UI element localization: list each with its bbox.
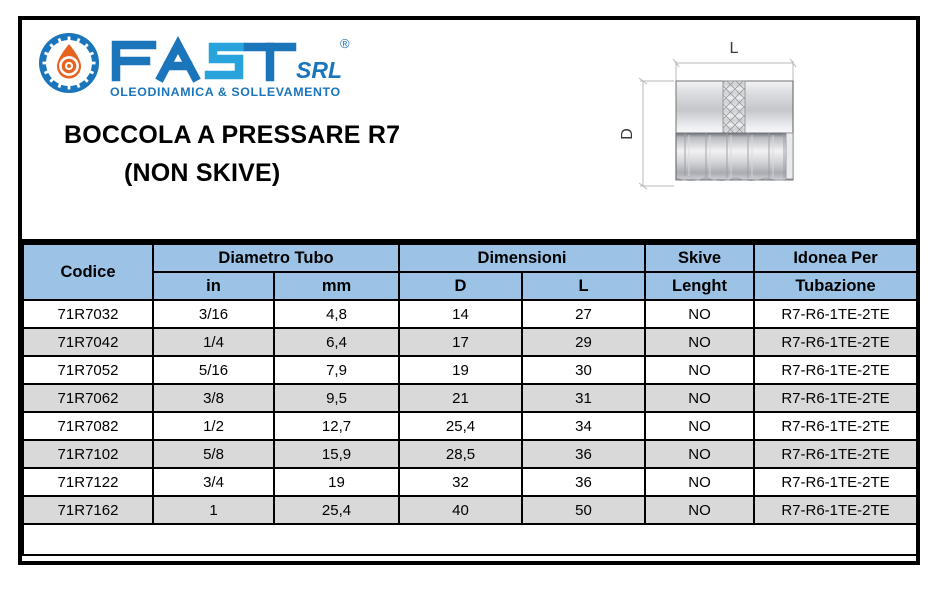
- specification-table: Codice Diametro Tubo Dimensioni Skive Id…: [22, 243, 916, 556]
- cell-tubazione: R7-R6-1TE-2TE: [754, 440, 917, 468]
- cell-codice: 71R7162: [23, 496, 153, 524]
- title-line-2: (NON SKIVE): [46, 154, 476, 192]
- gear-oil-drop-icon: [38, 32, 100, 94]
- cell-skive: NO: [645, 468, 754, 496]
- table-row: 71R70323/164,81427NOR7-R6-1TE-2TE: [23, 300, 917, 328]
- cell-d: 28,5: [399, 440, 522, 468]
- table-row: 71R70421/46,41729NOR7-R6-1TE-2TE: [23, 328, 917, 356]
- cell-d: 32: [399, 468, 522, 496]
- svg-text:®: ®: [340, 36, 350, 51]
- col-group-diametro-tubo: Diametro Tubo: [153, 244, 399, 272]
- cell-l: 30: [522, 356, 645, 384]
- cell-skive: NO: [645, 300, 754, 328]
- table-sub-header-row: in mm D L Lenght Tubazione: [23, 272, 917, 300]
- cell-l: 31: [522, 384, 645, 412]
- title-line-1: BOCCOLA A PRESSARE R7: [46, 116, 476, 154]
- svg-text:SRL: SRL: [296, 57, 342, 83]
- cell-d: 17: [399, 328, 522, 356]
- cell-tubazione: R7-R6-1TE-2TE: [754, 384, 917, 412]
- filler-cell: [522, 524, 645, 555]
- table-body: 71R70323/164,81427NOR7-R6-1TE-2TE71R7042…: [23, 300, 917, 555]
- cell-l: 34: [522, 412, 645, 440]
- table-group-header-row: Codice Diametro Tubo Dimensioni Skive Id…: [23, 244, 917, 272]
- cell-d: 21: [399, 384, 522, 412]
- table-row: 71R7162125,44050NOR7-R6-1TE-2TE: [23, 496, 917, 524]
- cell-tubazione: R7-R6-1TE-2TE: [754, 412, 917, 440]
- cell-skive: NO: [645, 328, 754, 356]
- cell-codice: 71R7042: [23, 328, 153, 356]
- filler-cell: [274, 524, 399, 555]
- cell-tubazione: R7-R6-1TE-2TE: [754, 496, 917, 524]
- cell-tubazione: R7-R6-1TE-2TE: [754, 356, 917, 384]
- header-band: SRL ® OLEODINAMICA & SOLLEVAMENTO BOCCOL…: [22, 20, 916, 243]
- col-group-dimensioni: Dimensioni: [399, 244, 645, 272]
- cell-skive: NO: [645, 440, 754, 468]
- cell-l: 27: [522, 300, 645, 328]
- cell-mm: 4,8: [274, 300, 399, 328]
- datasheet-frame: SRL ® OLEODINAMICA & SOLLEVAMENTO BOCCOL…: [18, 16, 920, 565]
- filler-cell: [23, 524, 153, 555]
- table-row: 71R71223/4193236NOR7-R6-1TE-2TE: [23, 468, 917, 496]
- cell-in: 5/16: [153, 356, 274, 384]
- dimension-label-length: L: [730, 40, 739, 57]
- cell-skive: NO: [645, 412, 754, 440]
- cell-in: 3/8: [153, 384, 274, 412]
- cell-mm: 6,4: [274, 328, 399, 356]
- cell-codice: 71R7122: [23, 468, 153, 496]
- cell-tubazione: R7-R6-1TE-2TE: [754, 300, 917, 328]
- filler-cell: [153, 524, 274, 555]
- company-logo: SRL ® OLEODINAMICA & SOLLEVAMENTO: [38, 28, 368, 108]
- ferrule-technical-drawing: L D: [618, 26, 908, 226]
- page-title: BOCCOLA A PRESSARE R7 (NON SKIVE): [46, 116, 476, 192]
- table-row: 71R70525/167,91930NOR7-R6-1TE-2TE: [23, 356, 917, 384]
- filler-cell: [399, 524, 522, 555]
- dimension-line-diameter: [639, 78, 674, 189]
- cell-mm: 12,7: [274, 412, 399, 440]
- dimension-line-length: [673, 59, 796, 81]
- cell-mm: 25,4: [274, 496, 399, 524]
- cell-skive: NO: [645, 496, 754, 524]
- col-header-lenght: Lenght: [645, 272, 754, 300]
- dimension-label-diameter: D: [619, 128, 636, 140]
- col-group-skive: Skive: [645, 244, 754, 272]
- cell-mm: 15,9: [274, 440, 399, 468]
- col-header-l: L: [522, 272, 645, 300]
- cell-skive: NO: [645, 356, 754, 384]
- cell-in: 1: [153, 496, 274, 524]
- table-row: 71R70623/89,52131NOR7-R6-1TE-2TE: [23, 384, 917, 412]
- cell-codice: 71R7082: [23, 412, 153, 440]
- cell-in: 1/4: [153, 328, 274, 356]
- filler-cell: [645, 524, 754, 555]
- cell-codice: 71R7052: [23, 356, 153, 384]
- cell-codice: 71R7102: [23, 440, 153, 468]
- logo-wordmark: SRL ® OLEODINAMICA & SOLLEVAMENTO: [108, 30, 366, 102]
- cell-mm: 7,9: [274, 356, 399, 384]
- table-row: 71R70821/212,725,434NOR7-R6-1TE-2TE: [23, 412, 917, 440]
- col-header-codice: Codice: [23, 244, 153, 300]
- col-header-in: in: [153, 272, 274, 300]
- cell-l: 50: [522, 496, 645, 524]
- cell-mm: 19: [274, 468, 399, 496]
- cell-l: 36: [522, 468, 645, 496]
- filler-cell: [754, 524, 917, 555]
- cell-l: 29: [522, 328, 645, 356]
- cell-d: 19: [399, 356, 522, 384]
- cell-in: 1/2: [153, 412, 274, 440]
- cell-d: 25,4: [399, 412, 522, 440]
- col-header-tubazione: Tubazione: [754, 272, 917, 300]
- cell-codice: 71R7062: [23, 384, 153, 412]
- cell-in: 3/16: [153, 300, 274, 328]
- cell-l: 36: [522, 440, 645, 468]
- cell-d: 14: [399, 300, 522, 328]
- svg-text:OLEODINAMICA & SOLLEVAMENTO: OLEODINAMICA & SOLLEVAMENTO: [110, 85, 341, 99]
- col-header-d: D: [399, 272, 522, 300]
- col-header-mm: mm: [274, 272, 399, 300]
- table-filler-row: [23, 524, 917, 555]
- col-group-idonea-per: Idonea Per: [754, 244, 917, 272]
- table-row: 71R71025/815,928,536NOR7-R6-1TE-2TE: [23, 440, 917, 468]
- cell-skive: NO: [645, 384, 754, 412]
- cell-mm: 9,5: [274, 384, 399, 412]
- cell-tubazione: R7-R6-1TE-2TE: [754, 468, 917, 496]
- cell-codice: 71R7032: [23, 300, 153, 328]
- cell-tubazione: R7-R6-1TE-2TE: [754, 328, 917, 356]
- cell-d: 40: [399, 496, 522, 524]
- cell-in: 5/8: [153, 440, 274, 468]
- cell-in: 3/4: [153, 468, 274, 496]
